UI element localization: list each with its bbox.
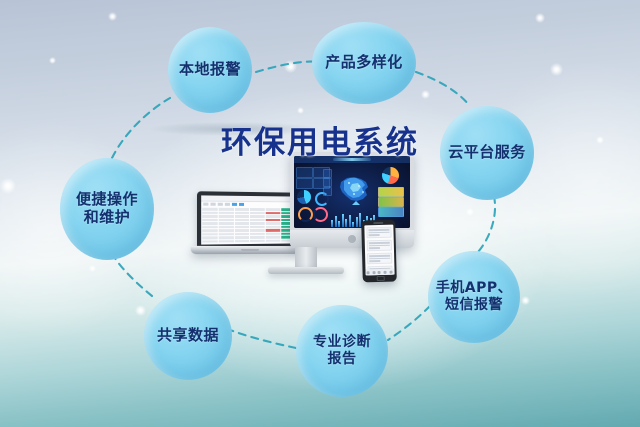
arc-product-to-cloud (416, 72, 470, 106)
strip-chart (378, 207, 404, 217)
china-map-visual (332, 168, 376, 212)
kpi-card (296, 178, 313, 189)
laptop-screen (201, 195, 296, 244)
device-cluster (176, 152, 436, 312)
bubble-shared-data[interactable]: 共享数据 (144, 292, 232, 380)
laptop-notch (241, 249, 259, 251)
page-title: 环保用电系统 (221, 117, 421, 162)
bubble-local-alarm[interactable]: 本地报警 (168, 27, 252, 113)
arc-cloud-to-app (478, 196, 495, 252)
alarm-list-item (366, 240, 391, 252)
bubble-easy-maintenance[interactable]: 便捷操作和维护 (60, 158, 154, 260)
ring-gauge (298, 207, 313, 222)
donut-gauge (297, 190, 311, 204)
alarm-list-item (366, 227, 391, 239)
poster-canvas: 环保用电系统 本地报警 产品多样化 云平台服务 手机APP、短信报警 专业诊断报… (0, 0, 640, 427)
mini-stat (323, 187, 332, 196)
phone-speaker (373, 222, 383, 224)
table-tool-icons (201, 202, 296, 208)
monitor-logo (348, 235, 356, 243)
bubble-label: 便捷操作和维护 (72, 191, 142, 226)
bubble-label: 手机APP、短信报警 (432, 280, 516, 313)
bubble-app-sms-alarm[interactable]: 手机APP、短信报警 (428, 251, 520, 343)
mini-stat (323, 169, 332, 178)
monitor-stand-neck (295, 247, 317, 269)
ring-gauge (313, 207, 328, 222)
arc-report-to-share (230, 330, 296, 348)
strip-chart (378, 187, 404, 197)
bubble-product-diversity[interactable]: 产品多样化 (312, 22, 416, 104)
strip-chart (378, 197, 404, 207)
bubble-label: 云平台服务 (444, 144, 530, 162)
kpi-card (296, 167, 313, 178)
monitor-stand-foot (268, 267, 344, 274)
phone-screen (364, 225, 394, 276)
laptop-lid (197, 191, 300, 249)
mini-stat (323, 178, 332, 187)
phone-home-button[interactable] (377, 275, 385, 280)
smartphone[interactable] (361, 220, 397, 283)
phone-tab-bar[interactable] (365, 269, 394, 276)
donut-gauge (382, 167, 399, 184)
bubble-diagnostic-report[interactable]: 专业诊断报告 (296, 305, 388, 397)
alarm-list-item (367, 253, 392, 265)
bubble-label: 专业诊断报告 (309, 334, 375, 367)
bubble-label: 本地报警 (175, 61, 245, 79)
bubble-label: 产品多样化 (321, 54, 407, 72)
bubble-label: 共享数据 (153, 327, 223, 345)
monitor-bezel (294, 156, 410, 228)
bubble-cloud-platform[interactable]: 云平台服务 (440, 106, 534, 200)
